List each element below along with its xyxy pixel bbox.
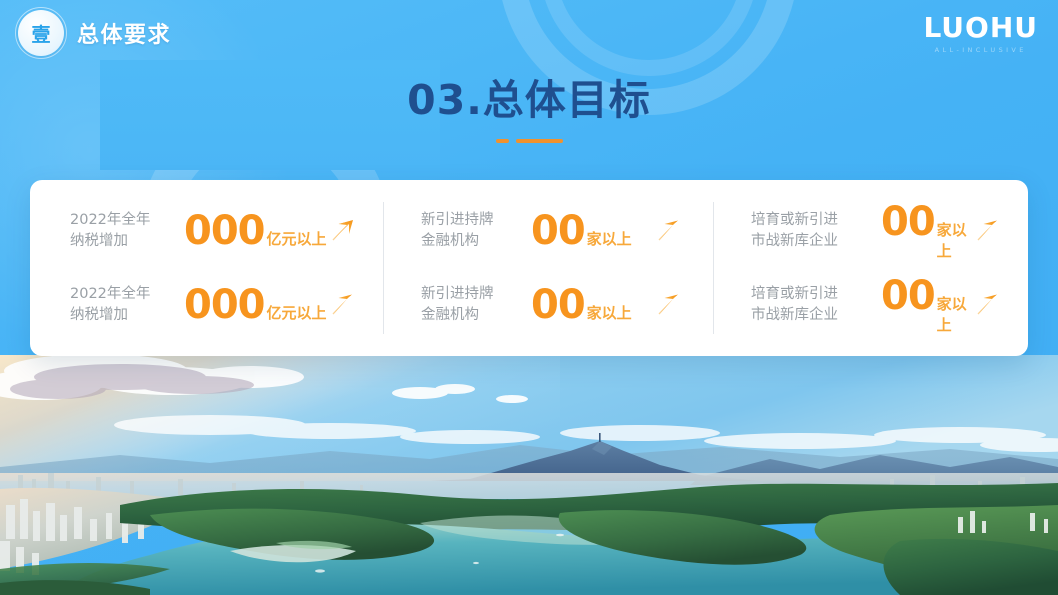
brand-logo: LUOHU ALL-INCLUSIVE <box>923 14 1038 54</box>
logo-tagline: ALL-INCLUSIVE <box>923 46 1038 54</box>
logo-wordmark: LUOHU <box>923 14 1038 42</box>
stats-column-3: 培育或新引进 市战新库企业 00 家以上 培育或新引进 市战新库企业 00 家以… <box>713 194 1020 342</box>
panorama-illustration <box>0 355 1058 595</box>
panorama-photo <box>0 355 1058 595</box>
stat-unit: 家以上 <box>937 219 972 261</box>
stat-unit: 亿元以上 <box>267 302 327 323</box>
stat-label: 2022年全年 纳税增加 <box>70 210 166 252</box>
section-title: 总体要求 <box>77 17 171 49</box>
stat-label: 新引进持牌 金融机构 <box>421 210 517 252</box>
stat-unit: 家以上 <box>587 228 632 249</box>
stat-item[interactable]: 新引进持牌 金融机构 00 家以上 <box>383 268 713 342</box>
arrow-up-right-icon <box>972 290 1002 320</box>
stat-unit: 亿元以上 <box>267 228 327 249</box>
stat-item[interactable]: 2022年全年 纳税增加 000 亿元以上 <box>38 268 383 342</box>
badge-number: 壹 <box>18 10 64 56</box>
stat-value: 000 亿元以上 <box>184 211 327 251</box>
stat-number: 00 <box>531 211 585 251</box>
stat-label: 2022年全年 纳税增加 <box>70 284 166 326</box>
stat-item[interactable]: 培育或新引进 市战新库企业 00 家以上 <box>713 268 1020 342</box>
divider-bar <box>516 139 563 143</box>
stat-unit: 家以上 <box>937 293 972 335</box>
page-title: 03.总体目标 <box>0 78 1058 123</box>
slide-root: 壹 总体要求 LUOHU ALL-INCLUSIVE 03.总体目标 2022年… <box>0 0 1058 595</box>
stat-number: 000 <box>184 211 265 251</box>
stats-column-1: 2022年全年 纳税增加 000 亿元以上 2022年全年 纳税增加 000 <box>38 194 383 342</box>
stat-item[interactable]: 新引进持牌 金融机构 00 家以上 <box>383 194 713 268</box>
stat-unit: 家以上 <box>587 302 632 323</box>
stat-item[interactable]: 2022年全年 纳税增加 000 亿元以上 <box>38 194 383 268</box>
arrow-up-right-icon <box>972 216 1002 246</box>
stat-item[interactable]: 培育或新引进 市战新库企业 00 家以上 <box>713 194 1020 268</box>
stat-value: 00 家以上 <box>881 202 972 261</box>
stat-number: 00 <box>881 202 935 242</box>
divider-dash <box>496 139 509 143</box>
decorative-ring-top-inner <box>540 0 758 76</box>
arrow-up-right-icon <box>653 290 683 320</box>
arrow-up-right-icon <box>327 290 357 320</box>
stat-number: 00 <box>881 276 935 316</box>
slide-header: 壹 总体要求 <box>18 10 171 56</box>
page-title-block: 03.总体目标 <box>0 78 1058 143</box>
stat-label: 新引进持牌 金融机构 <box>421 284 517 326</box>
stats-column-2: 新引进持牌 金融机构 00 家以上 新引进持牌 金融机构 00 家以上 <box>383 194 713 342</box>
stat-label: 培育或新引进 市战新库企业 <box>751 210 867 252</box>
title-divider <box>0 139 1058 143</box>
stat-value: 000 亿元以上 <box>184 285 327 325</box>
stat-label: 培育或新引进 市战新库企业 <box>751 284 867 326</box>
section-badge: 壹 <box>18 10 64 56</box>
arrow-up-right-icon <box>327 216 357 246</box>
stat-value: 00 家以上 <box>531 211 653 251</box>
stat-value: 00 家以上 <box>531 285 653 325</box>
stats-card: 2022年全年 纳税增加 000 亿元以上 2022年全年 纳税增加 000 <box>30 180 1028 356</box>
stat-number: 00 <box>531 285 585 325</box>
stat-number: 000 <box>184 285 265 325</box>
arrow-up-right-icon <box>653 216 683 246</box>
stat-value: 00 家以上 <box>881 276 972 335</box>
